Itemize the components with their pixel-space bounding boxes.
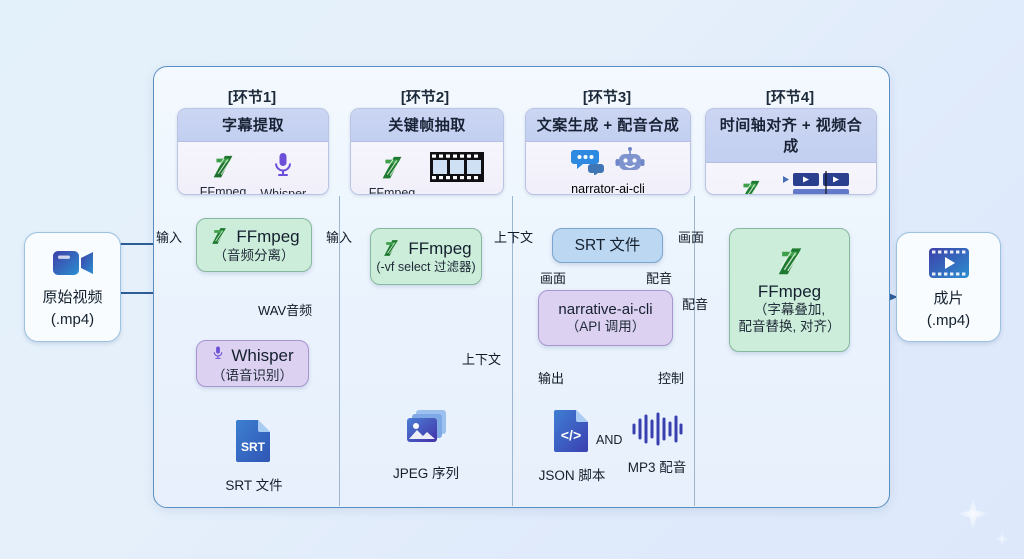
tool-name: FFmpeg bbox=[369, 186, 416, 196]
ffmpeg-icon bbox=[208, 153, 238, 183]
ffmpeg-icon bbox=[208, 226, 230, 248]
svg-text:SRT: SRT bbox=[241, 440, 266, 454]
microphone-icon bbox=[270, 150, 296, 185]
tool-name: narrator-ai-cli bbox=[571, 182, 645, 195]
tool-ffmpeg-4: FFmpeg bbox=[727, 178, 774, 196]
microphone-icon bbox=[211, 343, 225, 368]
node-title: FFmpeg bbox=[408, 239, 471, 259]
edge-label-control: 控制 bbox=[658, 368, 684, 387]
asset-srt-file[interactable]: SRT SRT 文件 bbox=[232, 418, 276, 494]
json-file-icon: </> bbox=[552, 408, 592, 459]
node-subtitle: (-vf select 过滤器) bbox=[376, 260, 475, 275]
node-ffmpeg-select[interactable]: FFmpeg (-vf select 过滤器) bbox=[370, 228, 482, 285]
asset-caption: JPEG 序列 bbox=[393, 462, 459, 482]
asset-caption: SRT 文件 bbox=[225, 474, 282, 494]
edge-label-input-1: 输入 bbox=[156, 227, 182, 246]
node-final-video[interactable]: 成片 (.mp4) bbox=[896, 232, 1001, 342]
asset-caption: MP3 配音 bbox=[628, 456, 687, 476]
node-srt-file[interactable]: SRT 文件 bbox=[552, 228, 663, 263]
tool-whisper-1: Whisper bbox=[260, 150, 306, 195]
film-strip-icon bbox=[429, 150, 485, 189]
node-title: 成片 bbox=[933, 290, 963, 307]
svg-text:</>: </> bbox=[561, 427, 581, 443]
asset-jpeg-sequence[interactable]: JPEG 序列 bbox=[402, 408, 450, 482]
phase-header-3: 文案生成 + 配音合成 bbox=[526, 109, 690, 142]
tool-filmstrip-2 bbox=[429, 150, 485, 191]
ffmpeg-icon bbox=[735, 178, 765, 196]
node-title: FFmpeg bbox=[236, 227, 299, 247]
phase-tag-1: [环节1] bbox=[178, 86, 326, 107]
node-source-video[interactable]: 原始视频 (.mp4) bbox=[24, 232, 121, 342]
timeline-editor-icon bbox=[781, 171, 855, 195]
asset-json-script[interactable]: </> JSON 脚本 bbox=[551, 408, 593, 484]
phase-tag-3: [环节3] bbox=[526, 86, 688, 107]
edge-label-wav: WAV音频 bbox=[258, 300, 312, 319]
sparkle-decoration-1 bbox=[956, 497, 990, 531]
node-title: FFmpeg bbox=[758, 282, 821, 302]
tool-ffmpeg-1: FFmpeg bbox=[200, 153, 247, 196]
tool-name: Whisper bbox=[260, 187, 306, 195]
phase-tag-2: [环节2] bbox=[351, 86, 499, 107]
video-play-icon bbox=[927, 245, 971, 286]
and-connector-label: AND bbox=[596, 433, 622, 447]
chat-bubble-icon bbox=[571, 147, 605, 180]
node-subtitle: (.mp4) bbox=[51, 311, 94, 328]
phase-header-1: 字幕提取 bbox=[178, 109, 328, 142]
sparkle-decoration-2 bbox=[994, 531, 1010, 547]
ffmpeg-icon bbox=[380, 238, 402, 260]
srt-file-icon: SRT bbox=[234, 418, 274, 469]
node-subtitle: (.mp4) bbox=[927, 312, 970, 329]
node-subtitle-2: 配音替换, 对齐） bbox=[738, 319, 840, 335]
edge-label-dub-2: 配音 bbox=[682, 294, 708, 313]
image-stack-icon bbox=[402, 408, 450, 457]
node-subtitle: （API 调用） bbox=[566, 319, 646, 335]
edge-label-picture-1: 画面 bbox=[540, 268, 566, 287]
tool-name: FFmpeg bbox=[200, 185, 247, 196]
edge-label-input-2: 输入 bbox=[326, 227, 352, 246]
node-subtitle: （字幕叠加, bbox=[754, 302, 825, 318]
tool-timeline-4 bbox=[781, 171, 855, 195]
robot-icon bbox=[615, 146, 645, 181]
asset-caption: JSON 脚本 bbox=[539, 464, 606, 484]
asset-mp3-dub[interactable]: MP3 配音 bbox=[630, 412, 684, 476]
node-subtitle: （语音识别） bbox=[212, 368, 293, 384]
node-whisper[interactable]: Whisper （语音识别） bbox=[196, 340, 309, 387]
node-title: SRT 文件 bbox=[575, 237, 641, 255]
node-narrative-cli[interactable]: narrative-ai-cli （API 调用） bbox=[538, 290, 673, 346]
edge-label-output: 输出 bbox=[538, 368, 564, 387]
phase-card-4: 时间轴对齐 + 视频合成 FFmpeg bbox=[705, 108, 877, 195]
phase-card-1: 字幕提取 FFmpeg Whisper bbox=[177, 108, 329, 195]
phase-tag-4: [环节4] bbox=[706, 86, 874, 107]
node-subtitle: （音频分离） bbox=[214, 248, 295, 264]
ffmpeg-icon bbox=[772, 245, 808, 281]
ffmpeg-icon bbox=[377, 154, 407, 184]
tool-ffmpeg-2: FFmpeg bbox=[369, 154, 416, 196]
node-title: narrative-ai-cli bbox=[558, 301, 652, 318]
node-ffmpeg-final[interactable]: FFmpeg （字幕叠加, 配音替换, 对齐） bbox=[729, 228, 850, 352]
phase-header-2: 关键帧抽取 bbox=[351, 109, 503, 142]
phase-card-2: 关键帧抽取 FFmpeg bbox=[350, 108, 504, 195]
phase-card-3: 文案生成 + 配音合成 narrator-ai-cli bbox=[525, 108, 691, 195]
edge-label-dub-1: 配音 bbox=[646, 268, 672, 287]
node-title: 原始视频 bbox=[42, 289, 102, 306]
video-camera-icon bbox=[51, 246, 95, 285]
phase-header-4: 时间轴对齐 + 视频合成 bbox=[706, 109, 876, 163]
edge-label-picture-2: 画面 bbox=[678, 227, 704, 246]
edge-label-context-1: 上下文 bbox=[494, 227, 533, 246]
edge-label-context-2: 上下文 bbox=[462, 349, 501, 368]
waveform-icon bbox=[630, 412, 684, 451]
node-ffmpeg-audio[interactable]: FFmpeg （音频分离） bbox=[196, 218, 312, 272]
node-title: Whisper bbox=[231, 346, 293, 366]
